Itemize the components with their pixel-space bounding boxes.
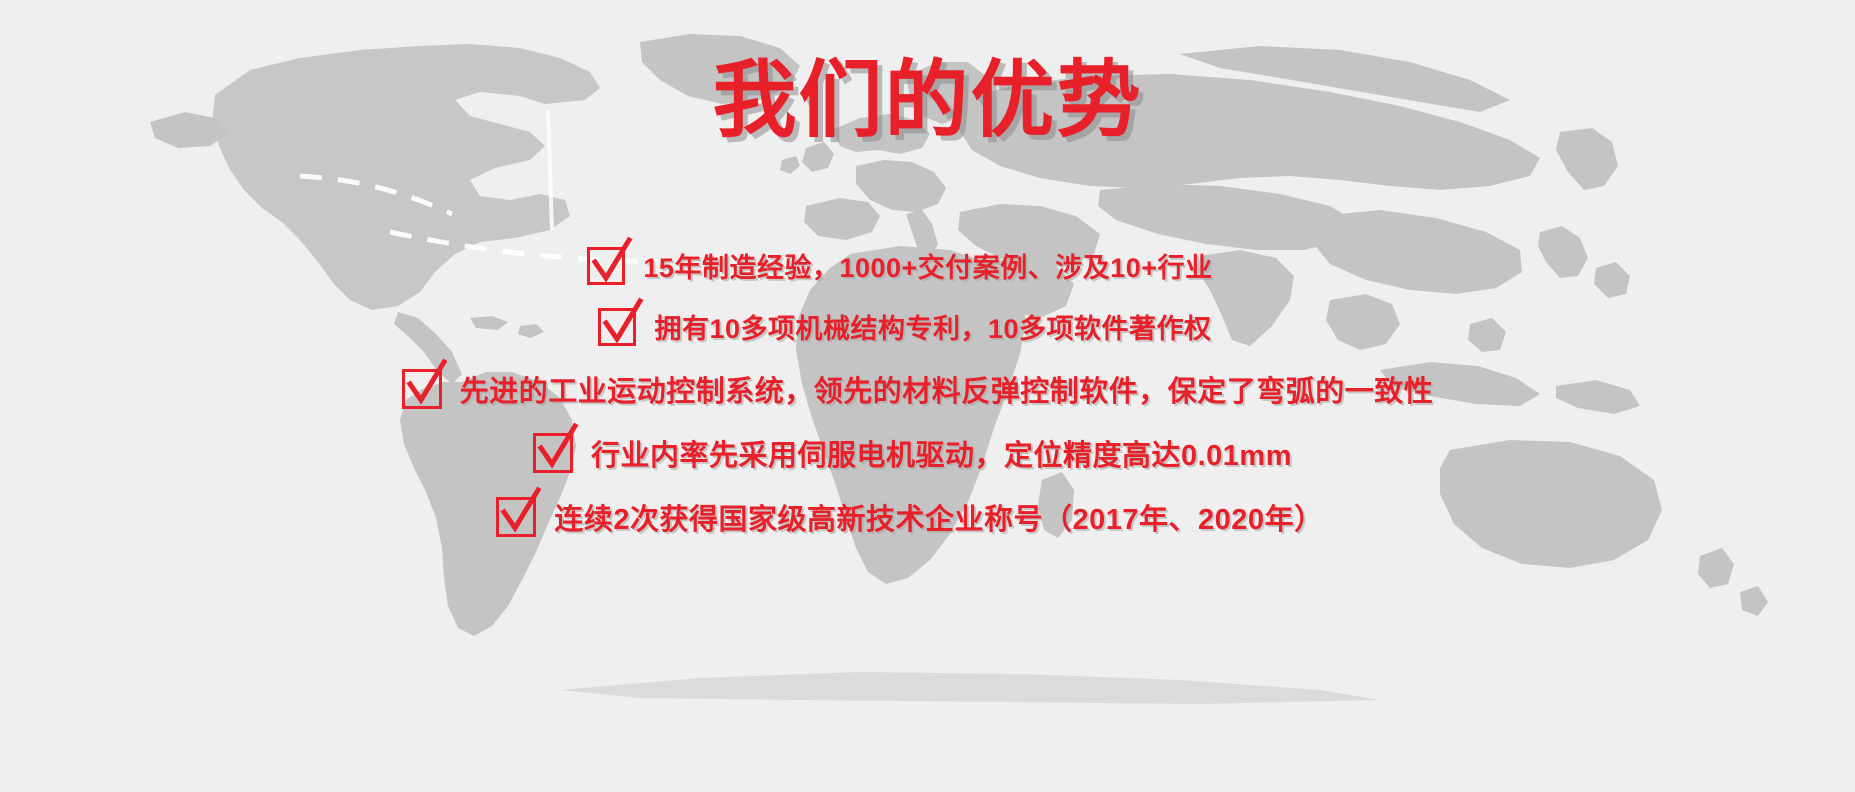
list-item: 拥有10多项机械结构专利，10多项软件著作权 — [598, 307, 1211, 346]
checkbox-checked-icon — [402, 369, 442, 409]
advantages-banner: 我们的优势 15年制造经验，1000+交付案例、涉及10+行业 拥有10多项机械… — [0, 0, 1855, 792]
advantages-list: 15年制造经验，1000+交付案例、涉及10+行业 拥有10多项机械结构专利，1… — [0, 246, 1855, 538]
list-item-label: 拥有10多项机械结构专利，10多项软件著作权 — [654, 307, 1211, 346]
list-item-label: 连续2次获得国家级高新技术企业称号（2017年、2020年） — [554, 496, 1323, 538]
checkbox-checked-icon — [587, 247, 625, 285]
list-item-label: 先进的工业运动控制系统，领先的材料反弹控制软件，保定了弯弧的一致性 — [460, 368, 1434, 410]
list-item-label: 行业内率先采用伺服电机驱动，定位精度高达0.01mm — [591, 432, 1292, 474]
list-item: 行业内率先采用伺服电机驱动，定位精度高达0.01mm — [533, 432, 1292, 474]
list-item-label: 15年制造经验，1000+交付案例、涉及10+行业 — [643, 246, 1212, 285]
checkbox-checked-icon — [598, 308, 636, 346]
checkbox-checked-icon — [533, 433, 573, 473]
list-item: 15年制造经验，1000+交付案例、涉及10+行业 — [587, 246, 1212, 285]
page-title: 我们的优势 — [712, 58, 1142, 142]
checkbox-checked-icon — [496, 497, 536, 537]
list-item: 先进的工业运动控制系统，领先的材料反弹控制软件，保定了弯弧的一致性 — [402, 368, 1434, 410]
list-item: 连续2次获得国家级高新技术企业称号（2017年、2020年） — [496, 496, 1323, 538]
